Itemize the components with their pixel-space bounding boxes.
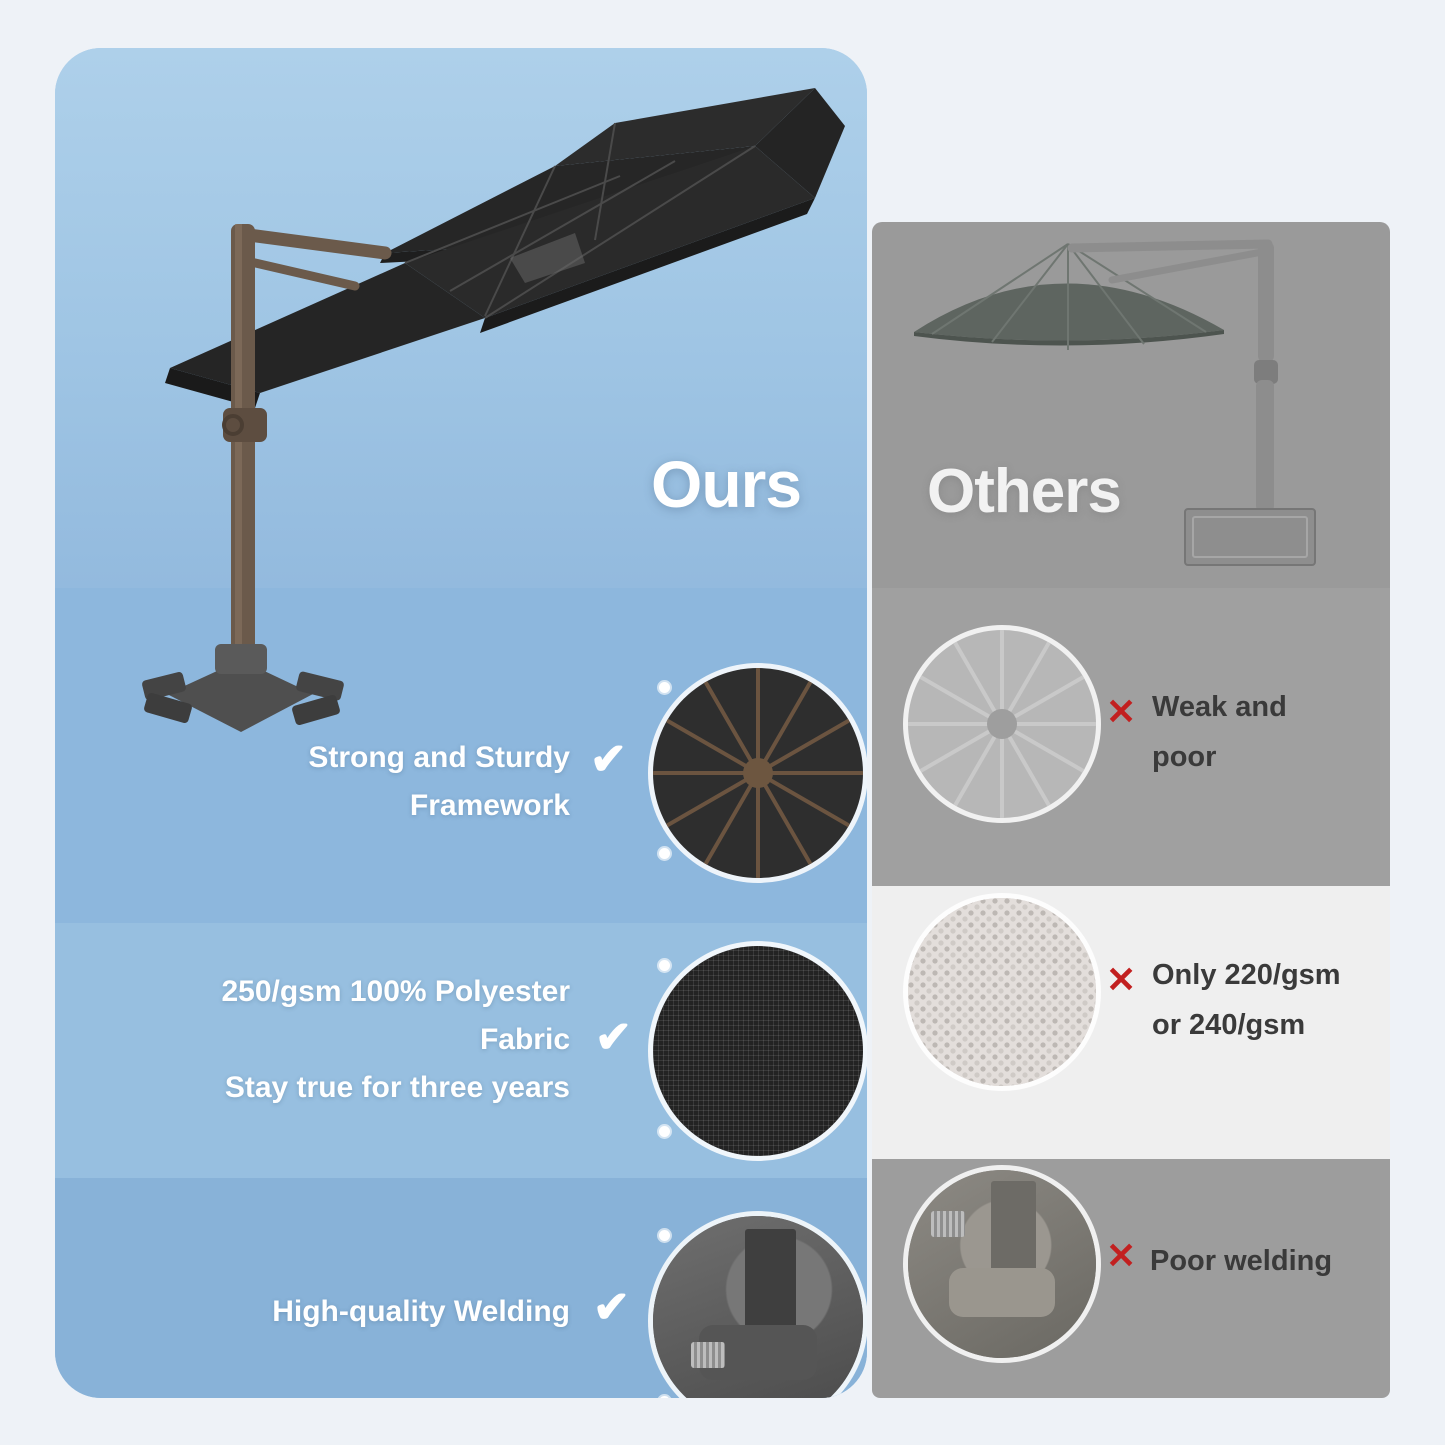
ours-panel: Ours Strong and SturdyFramework ✔ 250/gs… <box>55 48 867 1398</box>
ours-closeup-framework <box>653 668 863 878</box>
infographic-stage: Ours Strong and SturdyFramework ✔ 250/gs… <box>0 0 1445 1445</box>
others-panel <box>872 222 1390 1398</box>
others-umbrella-base <box>1184 508 1316 566</box>
ours-title: Ours <box>651 446 801 522</box>
callout-dot <box>659 1126 670 1137</box>
ours-feature-framework-text: Strong and SturdyFramework <box>205 734 570 830</box>
ours-closeup-welding <box>653 1216 863 1398</box>
ours-check-icon-fabric: ✔ <box>595 1016 632 1060</box>
callout-dot <box>659 1230 670 1241</box>
others-closeup-framework <box>908 630 1096 818</box>
callout-dot <box>659 848 670 859</box>
others-feature-fabric-text: Only 220/gsmor 240/gsm <box>1152 950 1402 1050</box>
others-umbrella-image <box>872 222 1390 588</box>
others-closeup-welding <box>908 1170 1096 1358</box>
others-feature-framework-text: Weak andpoor <box>1152 682 1392 782</box>
others-feature-welding-text: Poor welding <box>1150 1236 1410 1286</box>
others-cross-icon-fabric: ✕ <box>1106 962 1136 998</box>
others-title: Others <box>927 456 1121 527</box>
callout-dot <box>659 960 670 971</box>
others-closeup-fabric <box>908 898 1096 1086</box>
others-cross-icon-welding: ✕ <box>1106 1238 1136 1274</box>
others-cross-icon-framework: ✕ <box>1106 694 1136 730</box>
ours-umbrella-image <box>55 48 867 748</box>
ours-closeup-fabric <box>653 946 863 1156</box>
ours-feature-welding-text: High-quality Welding <box>115 1288 570 1336</box>
ours-check-icon-framework: ✔ <box>590 738 627 782</box>
ours-feature-fabric-text: 250/gsm 100% PolyesterFabricStay true fo… <box>115 968 570 1112</box>
ours-check-icon-welding: ✔ <box>593 1286 630 1330</box>
callout-dot <box>659 682 670 693</box>
